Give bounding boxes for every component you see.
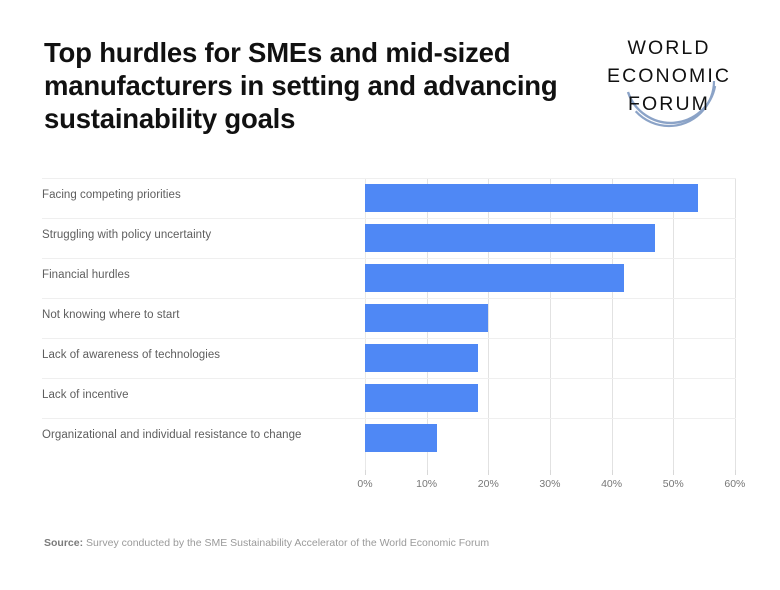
chart-header: Top hurdles for SMEs and mid-sized manuf… bbox=[0, 0, 780, 160]
category-label: Lack of awareness of technologies bbox=[42, 349, 220, 361]
bar bbox=[365, 424, 437, 452]
category-label: Struggling with policy uncertainty bbox=[42, 229, 211, 241]
source-label: Source: bbox=[44, 537, 83, 549]
bar bbox=[365, 224, 655, 252]
x-axis: 0%10%20%30%40%50%60% bbox=[0, 470, 780, 498]
category-label: Not knowing where to start bbox=[42, 309, 179, 321]
category-label: Facing competing priorities bbox=[42, 189, 181, 201]
category-label: Lack of incentive bbox=[42, 389, 129, 401]
world-economic-forum-logo: WORLD ECONOMIC FORUM bbox=[603, 26, 743, 136]
chart-row: Organizational and individual resistance… bbox=[0, 418, 780, 458]
chart-page: Top hurdles for SMEs and mid-sized manuf… bbox=[0, 0, 780, 590]
chart-row: Facing competing priorities bbox=[0, 178, 780, 218]
x-tick-label: 30% bbox=[539, 478, 560, 490]
bar bbox=[365, 304, 488, 332]
row-separator bbox=[42, 338, 736, 339]
x-tick-label: 20% bbox=[478, 478, 499, 490]
logo-text-forum: FORUM bbox=[628, 93, 710, 115]
row-separator bbox=[42, 178, 736, 179]
bar bbox=[365, 184, 698, 212]
x-tick-label: 40% bbox=[601, 478, 622, 490]
logo-text-world: WORLD bbox=[627, 37, 710, 59]
tick-mark bbox=[488, 470, 489, 475]
source-note: Source: Survey conducted by the SME Sust… bbox=[44, 537, 489, 549]
category-label: Organizational and individual resistance… bbox=[42, 429, 302, 441]
chart-row: Lack of awareness of technologies bbox=[0, 338, 780, 378]
x-tick-label: 60% bbox=[724, 478, 745, 490]
source-text: Survey conducted by the SME Sustainabili… bbox=[83, 537, 489, 549]
tick-mark bbox=[365, 470, 366, 475]
x-tick-label: 10% bbox=[416, 478, 437, 490]
tick-mark bbox=[612, 470, 613, 475]
bar bbox=[365, 344, 478, 372]
category-label: Financial hurdles bbox=[42, 269, 130, 281]
tick-mark bbox=[735, 470, 736, 475]
x-tick-label: 0% bbox=[357, 478, 372, 490]
tick-mark bbox=[427, 470, 428, 475]
row-separator bbox=[42, 258, 736, 259]
bar bbox=[365, 264, 624, 292]
x-tick-label: 50% bbox=[663, 478, 684, 490]
bar bbox=[365, 384, 478, 412]
logo-text-economic: ECONOMIC bbox=[607, 65, 731, 87]
tick-mark bbox=[550, 470, 551, 475]
chart-row: Financial hurdles bbox=[0, 258, 780, 298]
chart-row: Not knowing where to start bbox=[0, 298, 780, 338]
tick-mark bbox=[673, 470, 674, 475]
row-separator bbox=[42, 378, 736, 379]
row-separator bbox=[42, 418, 736, 419]
bar-rows: Facing competing prioritiesStruggling wi… bbox=[0, 178, 780, 470]
row-separator bbox=[42, 218, 736, 219]
chart-row: Lack of incentive bbox=[0, 378, 780, 418]
chart-row: Struggling with policy uncertainty bbox=[0, 218, 780, 258]
row-separator bbox=[42, 298, 736, 299]
bar-chart: Facing competing prioritiesStruggling wi… bbox=[0, 178, 780, 498]
page-title: Top hurdles for SMEs and mid-sized manuf… bbox=[44, 36, 574, 135]
